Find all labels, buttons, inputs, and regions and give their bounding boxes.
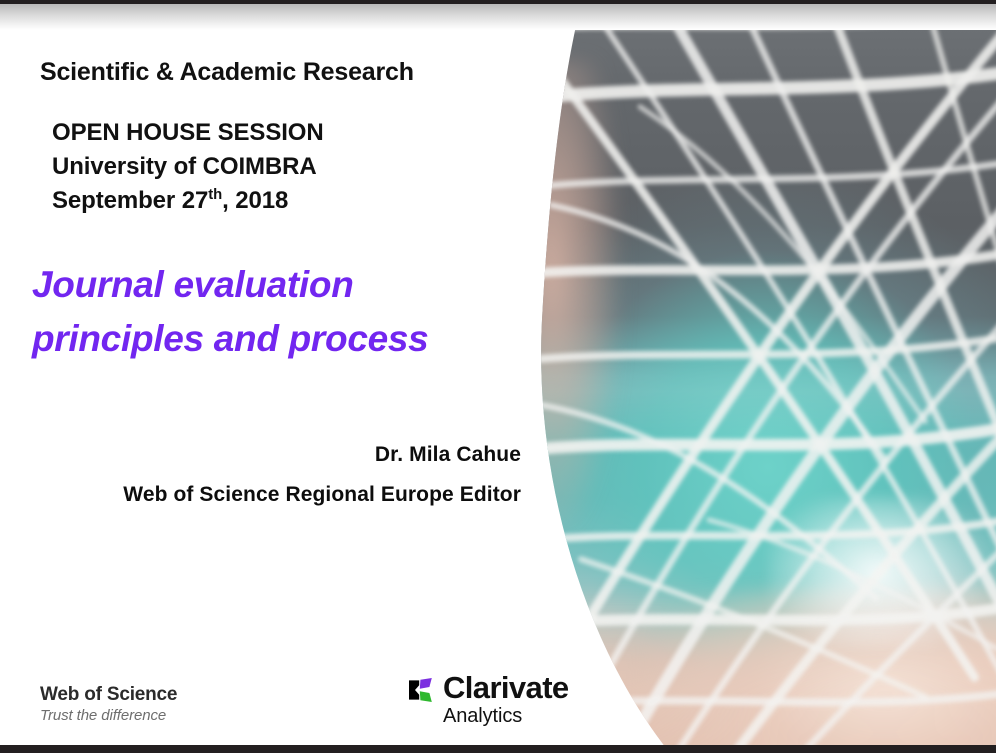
hero-photo: [520, 0, 996, 753]
presenter-name: Dr. Mila Cahue: [0, 443, 521, 467]
event-details: OPEN HOUSE SESSION University of COIMBRA…: [52, 116, 324, 218]
clarivate-name: Clarivate: [443, 672, 569, 703]
clarivate-wordmark: Clarivate Analytics: [443, 672, 569, 726]
event-date: September 27th, 2018: [52, 184, 324, 218]
web-of-science-wordmark: Web of Science: [40, 684, 177, 706]
bottom-border-strip: [0, 745, 996, 753]
slide-title: Journal evaluation principles and proces…: [32, 258, 428, 366]
web-of-science-logo: Web of Science Trust the difference: [40, 684, 177, 724]
slide-title-line-1: Journal evaluation: [32, 258, 428, 312]
top-border-strip: [0, 0, 996, 4]
event-line-1: OPEN HOUSE SESSION: [52, 116, 324, 150]
slide-eyebrow: Scientific & Academic Research: [40, 58, 414, 87]
clarivate-logo: Clarivate Analytics: [406, 672, 569, 726]
event-date-prefix: September 27: [52, 187, 208, 214]
web-of-science-tagline: Trust the difference: [40, 707, 177, 724]
top-gradient-band: [0, 4, 996, 30]
clarivate-mark-icon: [406, 675, 436, 705]
slide-title-line-2: principles and process: [32, 312, 428, 366]
presentation-slide: Scientific & Academic Research OPEN HOUS…: [0, 0, 996, 753]
fibre-net-overlay: [520, 0, 996, 753]
presenter-block: Dr. Mila Cahue Web of Science Regional E…: [0, 443, 521, 507]
clarivate-subname: Analytics: [443, 706, 569, 726]
presenter-role: Web of Science Regional Europe Editor: [0, 483, 521, 507]
event-date-suffix: , 2018: [222, 187, 288, 214]
event-date-ordinal: th: [208, 187, 222, 203]
event-line-2: University of COIMBRA: [52, 150, 324, 184]
